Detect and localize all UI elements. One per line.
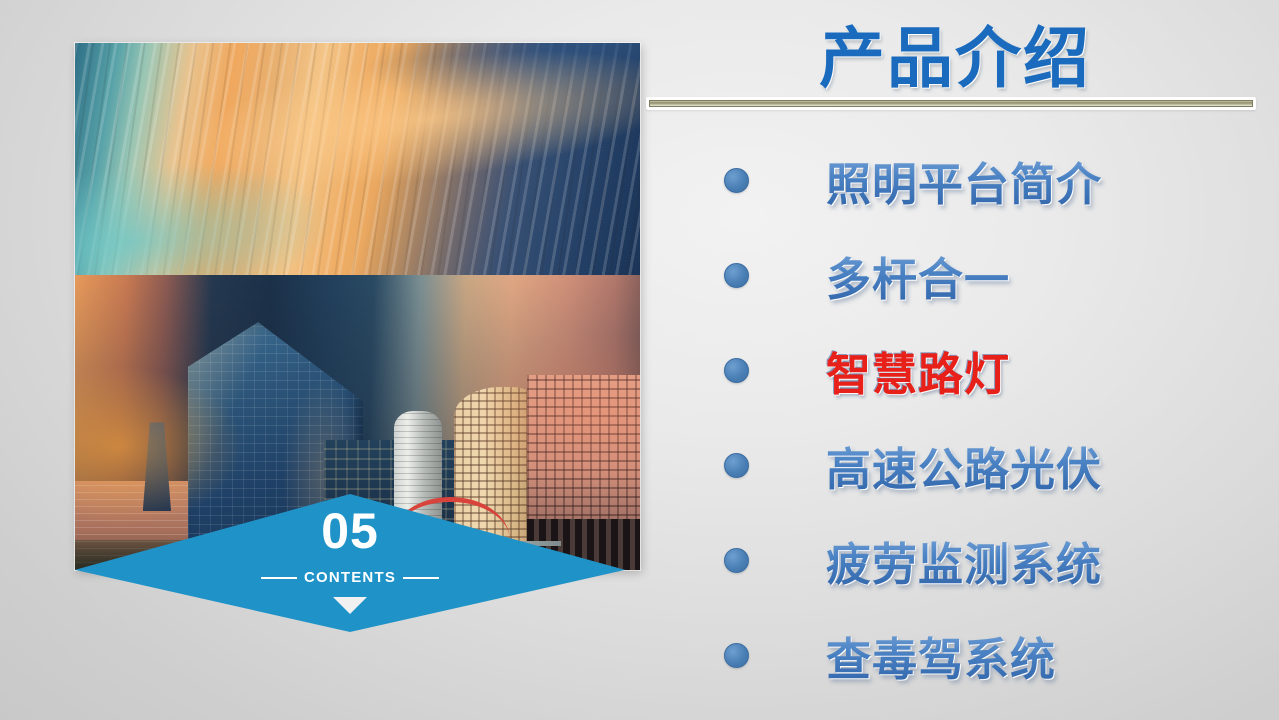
bullet-dot-icon (724, 643, 749, 668)
list-item-label: 高速公路光伏 (826, 433, 1102, 498)
title-divider-bar (649, 100, 1253, 107)
agenda-list: 照明平台简介 多杆合一 智慧路灯 高速公路光伏 疲劳监测系统 查毒驾系统 (700, 133, 1260, 703)
title-divider (646, 97, 1256, 110)
list-item[interactable]: 查毒驾系统 (700, 608, 1260, 703)
page-title: 产品介绍 (640, 5, 1270, 101)
list-item-label: 智慧路灯 (826, 338, 1010, 403)
photo-artwork (75, 43, 640, 570)
list-item[interactable]: 高速公路光伏 (700, 418, 1260, 513)
bullet-dot-icon (724, 453, 749, 478)
bullet-dot-icon (724, 168, 749, 193)
list-item[interactable]: 多杆合一 (700, 228, 1260, 323)
list-item-label: 查毒驾系统 (826, 623, 1056, 688)
bullet-dot-icon (724, 263, 749, 288)
cityscape-photo (75, 43, 640, 570)
navy-tower (143, 422, 171, 511)
list-item[interactable]: 疲劳监测系统 (700, 513, 1260, 608)
list-item-label: 疲劳监测系统 (826, 528, 1102, 593)
bullet-dot-icon (724, 548, 749, 573)
list-item-highlighted[interactable]: 智慧路灯 (700, 323, 1260, 418)
slide-canvas: 05 CONTENTS 产品介绍 照明平台简介 多杆合一 智慧路灯 高速公路光伏 (0, 0, 1279, 720)
list-item-label: 照明平台简介 (826, 148, 1102, 213)
list-item[interactable]: 照明平台简介 (700, 133, 1260, 228)
list-item-label: 多杆合一 (826, 243, 1010, 308)
bullet-dot-icon (724, 358, 749, 383)
